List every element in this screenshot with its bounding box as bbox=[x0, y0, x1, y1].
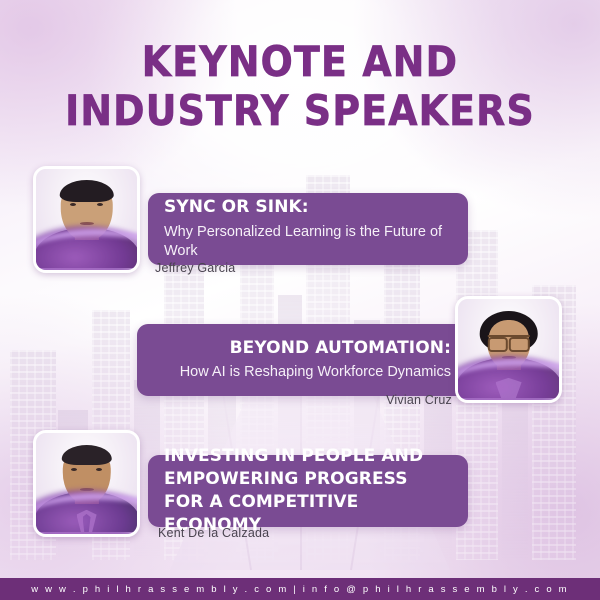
speaker-title-2: BEYOND AUTOMATION: bbox=[230, 338, 451, 359]
speaker-subtitle-2: How AI is Reshaping Workforce Dynamics bbox=[180, 363, 451, 382]
speaker-bar-3: INVESTING IN PEOPLE AND EMPOWERING PROGR… bbox=[148, 455, 468, 527]
speaker-name-2: Vivian Cruz bbox=[244, 393, 452, 407]
footer-bar: w w w . p h i l h r a s s e m b l y . c … bbox=[0, 578, 600, 600]
speaker-subtitle-1: Why Personalized Learning is the Future … bbox=[164, 223, 452, 261]
speakers-poster: KEYNOTE AND INDUSTRY SPEAKERS SYNC OR SI… bbox=[0, 0, 600, 600]
speaker-photo-1 bbox=[33, 166, 140, 273]
title-line-1: KEYNOTE AND bbox=[0, 40, 600, 83]
poster-title: KEYNOTE AND INDUSTRY SPEAKERS bbox=[0, 40, 600, 133]
speaker-name-1: Jeffrey Garcia bbox=[155, 261, 235, 275]
speaker-photo-3 bbox=[33, 430, 140, 537]
footer-contact-text: w w w . p h i l h r a s s e m b l y . c … bbox=[31, 584, 569, 595]
speaker-name-3: Kent De la Calzada bbox=[158, 526, 269, 540]
speaker-title-3: INVESTING IN PEOPLE AND EMPOWERING PROGR… bbox=[164, 445, 452, 537]
speaker-photo-2 bbox=[455, 296, 562, 403]
speaker-title-1: SYNC OR SINK: bbox=[164, 197, 452, 218]
speaker-bar-2: BEYOND AUTOMATION: How AI is Reshaping W… bbox=[137, 324, 467, 396]
speaker-bar-1: SYNC OR SINK: Why Personalized Learning … bbox=[148, 193, 468, 265]
title-line-2: INDUSTRY SPEAKERS bbox=[0, 89, 600, 132]
